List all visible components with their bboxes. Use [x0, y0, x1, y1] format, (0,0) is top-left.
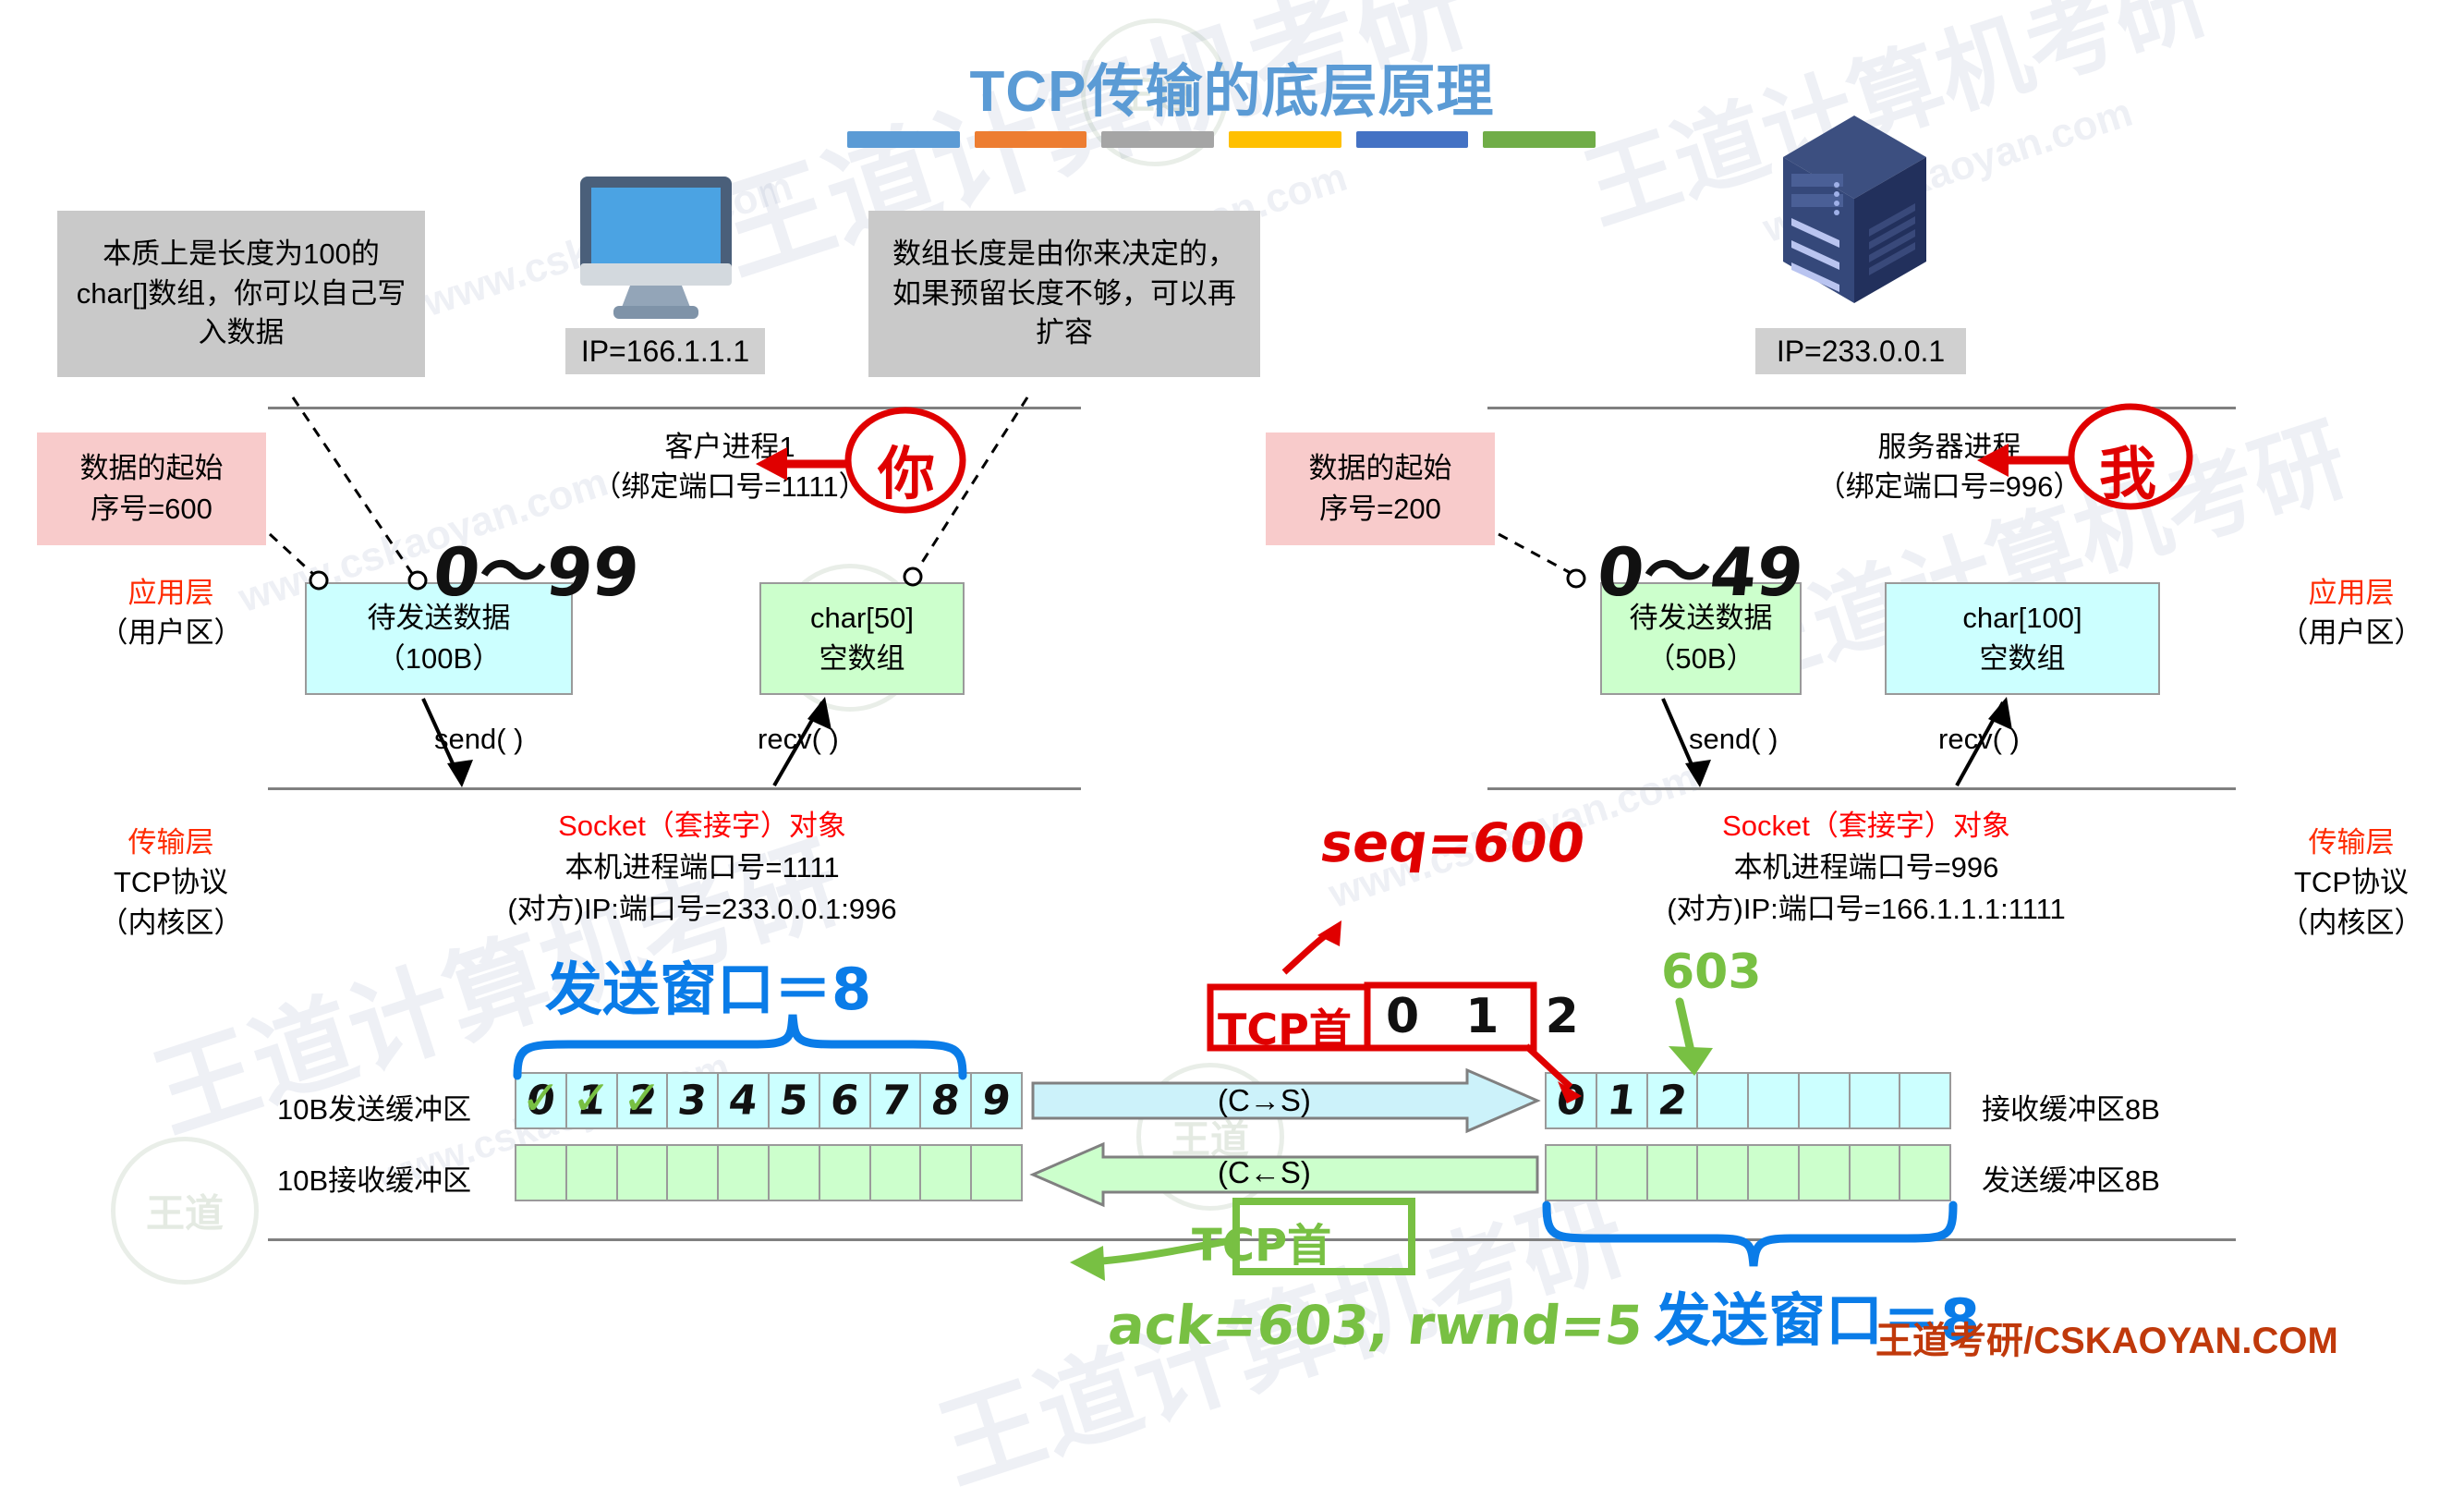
brand-label: 王道考研/CSKAOYAN.COM [1875, 1310, 2338, 1364]
ack-annotation: ack=603, rwnd=5 [1105, 1294, 1645, 1357]
buffer-cell [1698, 1146, 1749, 1200]
title-bar-5 [1356, 131, 1469, 148]
buffer-cell: 2✓ [618, 1074, 669, 1127]
buffer-cell-value: 8 [918, 1078, 973, 1125]
client-range-annotation: 0〜99 [429, 518, 644, 615]
client-socket-info: Socket（套接字）对象 本机进程端口号=1111 (对方)IP:端口号=23… [351, 806, 1053, 931]
buffer-cell-value: 7 [868, 1078, 922, 1125]
desktop-monitor-icon [573, 171, 739, 319]
server-recv-array-box: char[100] 空数组 [1885, 582, 2160, 695]
title-accent-bars [847, 131, 1596, 148]
client-recv-buffer [515, 1144, 1023, 1201]
client-ip-label: IP=166.1.1.1 [565, 328, 765, 374]
server-send-call-label: send( ) [1689, 723, 1778, 756]
buffer-cell: 2 [1648, 1074, 1699, 1127]
client-note-box: 本质上是长度为100的char[]数组，你可以自己写入数据 [57, 211, 425, 377]
client-recv-array-box: char[50] 空数组 [759, 582, 965, 695]
buffer-cell [1900, 1146, 1949, 1200]
buffer-cell [770, 1146, 820, 1200]
tcp-header-red-label: TCP首 [1218, 996, 1352, 1057]
buffer-cell-value: 6 [818, 1078, 872, 1125]
right-transport-proto: TCP协议 [2254, 862, 2448, 902]
divider-transport-top-right [1487, 787, 2236, 790]
client-seq-line2: 序号=600 [91, 489, 212, 530]
buffer-cell [668, 1146, 719, 1200]
server-recv-array-line1: char[100] [1962, 598, 2082, 639]
client-seq-line1: 数据的起始 [80, 448, 224, 489]
buffer-cell: 8 [921, 1074, 972, 1127]
client-socket-remote: (对方)IP:端口号=233.0.0.1:996 [351, 889, 1053, 931]
buffer-cell: 7 [871, 1074, 922, 1127]
tcp-segment-payload-label: 0 1 2 [1386, 989, 1594, 1044]
buffer-cell [1547, 1146, 1597, 1200]
buffer-cell: 6 [820, 1074, 871, 1127]
buffer-cell [1597, 1146, 1648, 1200]
you-mark-label: 你 [878, 427, 935, 510]
buffer-cell-value: 3 [665, 1078, 720, 1125]
buffer-cell [1749, 1146, 1800, 1200]
buffer-cell [567, 1146, 618, 1200]
title-bar-4 [1229, 131, 1341, 148]
server-send-buffer-label: 发送缓冲区8B [1982, 1157, 2160, 1199]
buffer-cell: 4 [719, 1074, 770, 1127]
seq-annotation: seq=600 [1317, 811, 1589, 874]
buffer-cell [1800, 1074, 1851, 1127]
buffer-cell-value: 2 [1645, 1078, 1699, 1125]
me-mark-annotation [1949, 405, 2199, 525]
left-app-layer-sub: （用户区） [74, 613, 268, 652]
server-socket-local: 本机进程端口号=996 [1515, 847, 2217, 889]
left-transport-proto: TCP协议 [74, 862, 268, 902]
server-note-box: 数组长度是由你来决定的，如果预留长度不够，可以再扩容 [868, 211, 1260, 377]
left-transport-sub: （内核区） [74, 903, 268, 943]
client-seq-box: 数据的起始 序号=600 [37, 433, 266, 545]
page-title: TCP传输的底层原理 [0, 44, 2464, 128]
server-socket-title: Socket（套接字）对象 [1515, 806, 2217, 847]
left-app-layer-name: 应用层 [74, 573, 268, 613]
left-app-layer-label: 应用层 （用户区） [74, 573, 268, 653]
channel-c2s-label: (C→S) [1218, 1083, 1311, 1118]
buffer-cell: 5 [770, 1074, 820, 1127]
right-transport-layer-name: 传输层 [2254, 823, 2448, 862]
title-bar-3 [1101, 131, 1214, 148]
server-send-data-line2: （50B） [1646, 639, 1754, 679]
buffer-cell [921, 1146, 972, 1200]
ack-pointer-label: 603 [1661, 944, 1762, 1000]
divider-transport-top [268, 787, 1081, 790]
buffer-cell [871, 1146, 922, 1200]
channel-s2c-label: (C←S) [1218, 1155, 1311, 1190]
ack-pointer-arrow [1654, 998, 1755, 1081]
server-socket-info: Socket（套接字）对象 本机进程端口号=996 (对方)IP:端口号=166… [1515, 806, 2217, 931]
server-recv-array-line2: 空数组 [1980, 639, 2066, 679]
buffer-cell [1900, 1074, 1949, 1127]
you-mark-annotation [730, 407, 979, 527]
watermark-seal: 王道 [111, 1137, 259, 1285]
buffer-cell: 3 [668, 1074, 719, 1127]
server-seq-line2: 序号=200 [1319, 489, 1441, 530]
buffer-cell [1698, 1074, 1749, 1127]
server-seq-line1: 数据的起始 [1309, 448, 1452, 489]
buffer-cell [516, 1146, 567, 1200]
client-recv-array-line1: char[50] [810, 598, 914, 639]
buffer-cell [1749, 1074, 1800, 1127]
client-recv-call-label: recv( ) [758, 723, 839, 756]
client-recv-array-line2: 空数组 [819, 639, 905, 679]
client-socket-title: Socket（套接字）对象 [351, 806, 1053, 847]
buffer-cell [1800, 1146, 1851, 1200]
client-send-data-line2: （100B） [377, 639, 501, 679]
right-app-layer-sub: （用户区） [2254, 613, 2448, 652]
buffer-cell [719, 1146, 770, 1200]
left-transport-layer-label: 传输层 TCP协议 （内核区） [74, 823, 268, 943]
server-send-buffer [1545, 1144, 1951, 1201]
buffer-cell: 1 [1597, 1074, 1648, 1127]
server-range-annotation: 0〜49 [1593, 518, 1808, 615]
buffer-cell: 0✓ [516, 1074, 567, 1127]
right-app-layer-name: 应用层 [2254, 573, 2448, 613]
buffer-cell-value: 9 [969, 1078, 1024, 1125]
title-bar-6 [1483, 131, 1596, 148]
buffer-cell: 1✓ [567, 1074, 618, 1127]
buffer-cell [1648, 1146, 1699, 1200]
right-transport-layer-label: 传输层 TCP协议 （内核区） [2254, 823, 2448, 943]
buffer-cell-value: 5 [767, 1078, 821, 1125]
buffer-cell [1851, 1146, 1901, 1200]
buffer-cell-value: 1 [1595, 1078, 1649, 1125]
server-recv-buffer-label: 接收缓冲区8B [1982, 1086, 2160, 1127]
client-socket-local: 本机进程端口号=1111 [351, 847, 1053, 889]
server-socket-remote: (对方)IP:端口号=166.1.1.1:1111 [1515, 889, 2217, 931]
title-bar-1 [847, 131, 960, 148]
client-send-call-label: send( ) [434, 723, 523, 756]
server-tower-icon [1778, 92, 1931, 305]
buffer-cell [820, 1146, 871, 1200]
server-recv-call-label: recv( ) [1938, 723, 2020, 756]
client-send-buffer: 0✓1✓2✓3456789 [515, 1072, 1023, 1129]
client-send-window-label: 发送窗口＝8 [545, 943, 871, 1026]
right-transport-sub: （内核区） [2254, 903, 2448, 943]
tcp-header-green-label: TCP首 [1192, 1209, 1331, 1273]
title-bar-2 [975, 131, 1087, 148]
buffer-cell [618, 1146, 669, 1200]
buffer-cell [1851, 1074, 1901, 1127]
server-ip-label: IP=233.0.0.1 [1755, 328, 1966, 374]
buffer-cell-value: 4 [716, 1078, 771, 1125]
right-app-layer-label: 应用层 （用户区） [2254, 573, 2448, 653]
client-recv-buffer-label: 10B接收缓冲区 [277, 1157, 471, 1199]
server-send-window-brace [1543, 1201, 1968, 1273]
server-seq-box: 数据的起始 序号=200 [1266, 433, 1495, 545]
left-transport-layer-name: 传输层 [74, 823, 268, 862]
buffer-cell: 9 [972, 1074, 1021, 1127]
me-mark-label: 我 [2099, 427, 2156, 510]
client-send-buffer-label: 10B发送缓冲区 [277, 1086, 471, 1127]
